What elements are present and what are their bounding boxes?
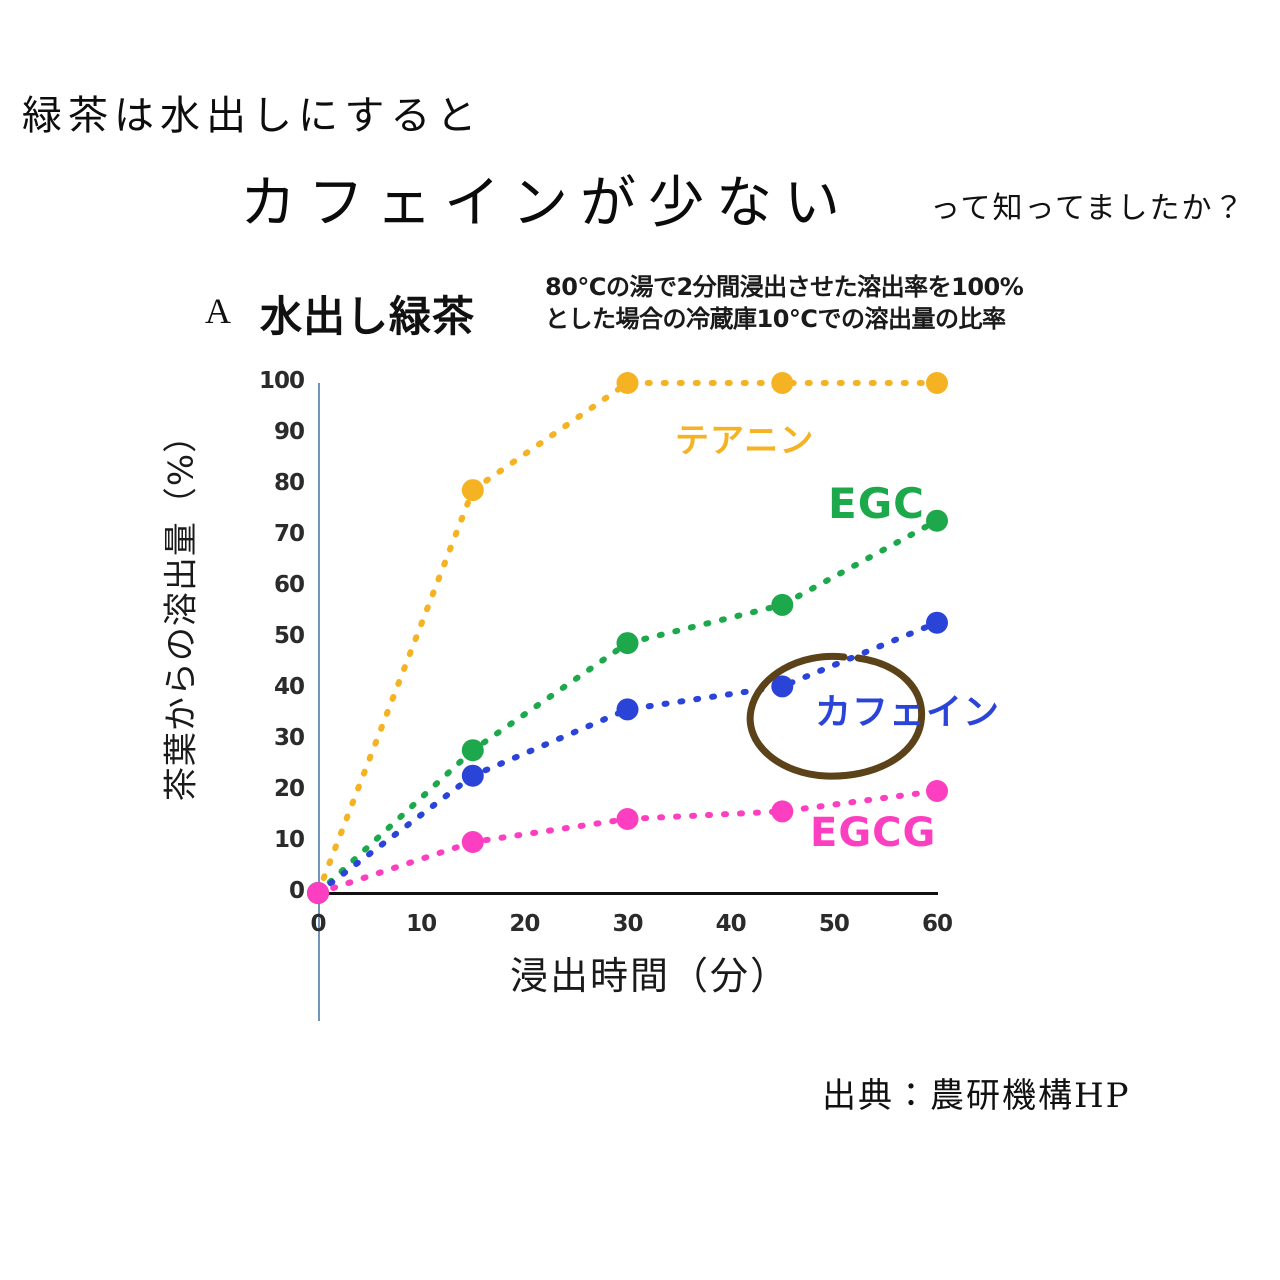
data-point (462, 739, 484, 761)
series-label-caffeine: カフェイン (815, 683, 1000, 735)
plot-area: 0102030405060708090100 0102030405060 茶葉か… (0, 255, 1280, 955)
data-point (462, 479, 484, 501)
data-point (926, 780, 948, 802)
data-point (617, 698, 639, 720)
data-point (307, 882, 329, 904)
data-point (771, 372, 793, 394)
headline-line-2: カフェインが少ない (240, 158, 852, 239)
series-label-egcg: EGCG (810, 810, 936, 856)
data-point (926, 510, 948, 532)
data-point (926, 612, 948, 634)
source-note: 出典：農研機構HP (822, 1068, 1131, 1117)
series-label-egc: EGC (828, 479, 925, 528)
chart-panel: A 水出し緑茶 80℃の湯で2分間浸出させた溶出率を100% とした場合の冷蔵庫… (0, 255, 1280, 1035)
headline-line-1: 緑茶は水出しにすると (22, 83, 482, 141)
data-point (617, 632, 639, 654)
data-point (771, 594, 793, 616)
series-layer (0, 255, 1280, 955)
poster-canvas: 緑茶は水出しにすると カフェインが少ない って知ってましたか？ A 水出し緑茶 … (0, 0, 1280, 1280)
series-label-theanine: テアニン (675, 413, 814, 462)
headline-line-3: って知ってましたか？ (930, 183, 1246, 227)
data-point (462, 765, 484, 787)
data-point (771, 800, 793, 822)
data-point (926, 372, 948, 394)
data-point (462, 831, 484, 853)
data-point (617, 808, 639, 830)
data-point (617, 372, 639, 394)
